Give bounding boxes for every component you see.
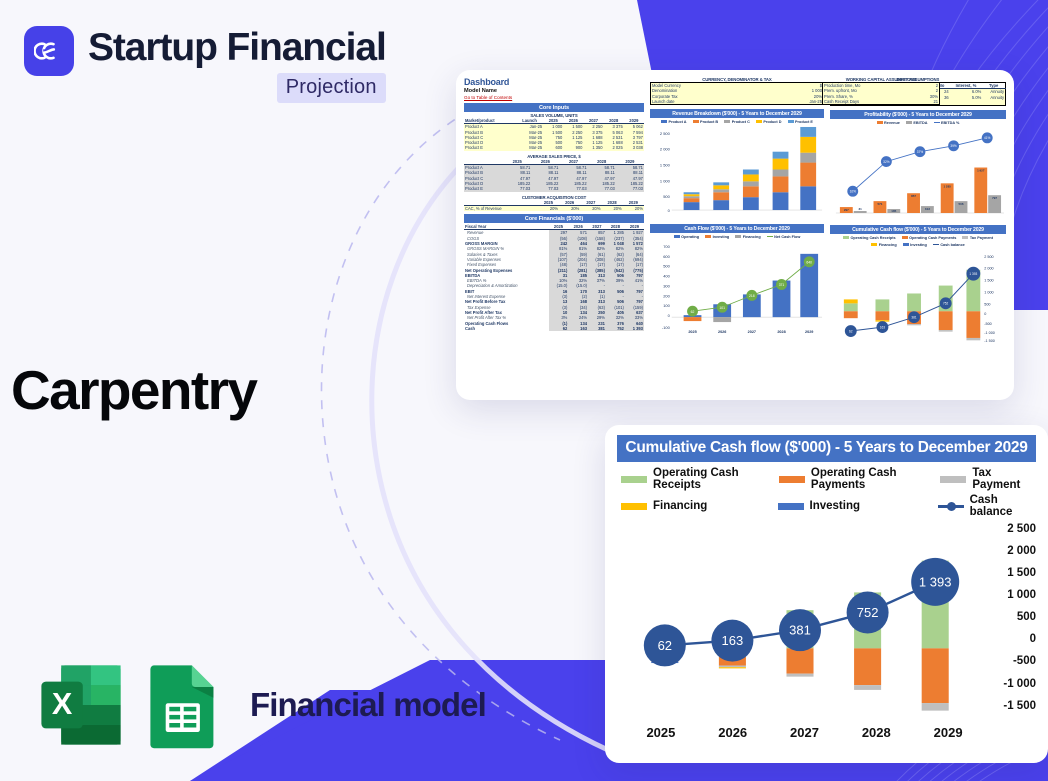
avg-price-table: 20252026202720282029Product A58.7158.715… bbox=[464, 159, 644, 192]
svg-text:2025: 2025 bbox=[688, 330, 696, 334]
svg-text:-100: -100 bbox=[662, 325, 671, 330]
svg-text:0: 0 bbox=[668, 313, 671, 318]
y-tick-label: 2 500 bbox=[1007, 523, 1036, 535]
data-point-label: 163 bbox=[722, 633, 744, 648]
legend-item: Investing bbox=[705, 235, 729, 239]
cell-value: 20% bbox=[538, 205, 559, 211]
legend-item: Operating bbox=[674, 235, 699, 239]
legend-swatch bbox=[767, 236, 773, 238]
row-label: CAC, % of Revenue bbox=[464, 205, 538, 211]
cashflow-legend: OperatingInvestingFinancingNet Cash Flow bbox=[650, 233, 824, 240]
cashflow-chart: 700600500 400300200 1000-100 62 bbox=[650, 240, 824, 335]
svg-text:-1 500: -1 500 bbox=[984, 339, 995, 343]
svg-text:0: 0 bbox=[668, 208, 671, 213]
legend-item-tax-payment: Tax Payment bbox=[940, 467, 1032, 491]
legend-label: Revenue bbox=[884, 121, 900, 125]
legend-label: Product B bbox=[700, 120, 718, 124]
legend-item: Revenue bbox=[877, 121, 900, 125]
legend-label: Product C bbox=[732, 120, 750, 124]
currency-box-table: Model Currency$Denomination1 000Corporat… bbox=[650, 82, 824, 105]
bar-segment bbox=[922, 703, 949, 711]
chart-plot-area: 621633817521 393 2 5002 0001 5001 000500… bbox=[617, 525, 1036, 740]
legend-item: Product A bbox=[661, 120, 687, 124]
table-row: Product EMar-256009001 3502 0253 038 bbox=[464, 145, 644, 150]
svg-text:32%: 32% bbox=[883, 160, 890, 164]
cumulative-cashflow-card[interactable]: Cumulative Cash flow ($'000) - 5 Years t… bbox=[605, 425, 1048, 763]
legend-swatch bbox=[933, 244, 939, 246]
svg-text:185: 185 bbox=[891, 209, 896, 213]
legend-label: Net Cash Flow bbox=[774, 235, 800, 239]
cell-value: 163 bbox=[568, 326, 588, 331]
cell-value: 900 bbox=[563, 145, 583, 150]
model-name-label: Model Name bbox=[464, 88, 644, 94]
row-label: Cash Receipt Days bbox=[823, 99, 915, 105]
svg-text:2029: 2029 bbox=[805, 330, 813, 334]
legend-item-operating-cash-payments: Operating Cash Payments bbox=[779, 467, 940, 491]
legend-item: Investing bbox=[903, 243, 927, 247]
profitability-legend: RevenueEBITDAEBITDA % bbox=[830, 119, 1006, 126]
legend-swatch bbox=[756, 120, 762, 123]
legend-label: Tax Payment bbox=[972, 467, 1032, 491]
svg-text:62: 62 bbox=[849, 330, 853, 334]
cell-value bbox=[950, 100, 983, 106]
cumulative-cashflow-chart-title: Cumulative Cash flow ($'000) - 5 Years t… bbox=[830, 225, 1006, 234]
legend-label: EBITDA % bbox=[941, 121, 959, 125]
svg-text:1 285: 1 285 bbox=[943, 184, 951, 188]
svg-text:300: 300 bbox=[663, 284, 670, 289]
cell-value: 77.03 bbox=[616, 186, 644, 191]
legend-swatch bbox=[693, 120, 699, 123]
svg-text:41%: 41% bbox=[984, 136, 991, 140]
cell-value: 21 bbox=[914, 99, 939, 105]
legend-item: EBITDA % bbox=[934, 121, 960, 125]
cell-value: 2 025 bbox=[604, 145, 624, 150]
legend-swatch bbox=[788, 120, 794, 123]
cell-value: Jan-25 bbox=[767, 99, 823, 105]
svg-text:1 927: 1 927 bbox=[977, 169, 985, 173]
wc-assumptions-block: WORKING CAPITAL ASSUMPTIONS Production t… bbox=[822, 77, 940, 105]
chart-svg: 621633817521 393 bbox=[617, 525, 987, 730]
chart-y-axis: 2 5002 0001 5001 0005000-500-1 000-1 500 bbox=[988, 525, 1036, 715]
revenue-breakdown-chart-title: Revenue Breakdown ($'000) - 5 Years to D… bbox=[650, 109, 824, 118]
dashboard-middle-column: CURRENCY, DENOMINATOR & TAX Model Curren… bbox=[650, 77, 824, 393]
y-tick-label: 1 000 bbox=[1007, 589, 1036, 601]
legend-swatch bbox=[735, 235, 741, 238]
wc-assumptions-table: Production time, Mo2Prem. upfront, Mo2Pr… bbox=[822, 82, 940, 105]
chart-title: Cumulative Cash flow ($'000) - 5 Years t… bbox=[617, 435, 1036, 462]
x-tick-label: 2026 bbox=[697, 725, 769, 740]
legend-label: Investing bbox=[910, 243, 927, 247]
data-point-label: 381 bbox=[789, 623, 811, 638]
svg-text:500: 500 bbox=[663, 194, 670, 199]
legend-swatch bbox=[843, 236, 849, 239]
cashflow-chart-title: Cash Flow ($'000) - 5 Years to December … bbox=[650, 224, 824, 233]
legend-label: Operating Cash Receipts bbox=[850, 236, 895, 240]
data-point-label: 1 393 bbox=[919, 574, 952, 589]
dashboard-screenshot-card[interactable]: Dashboard Model Name Go to Table of Cont… bbox=[456, 70, 1014, 400]
cac-table: 20252026202720282029CAC, % of Revenue20%… bbox=[464, 200, 644, 212]
svg-text:1 393: 1 393 bbox=[969, 272, 977, 276]
infinity-loop-icon bbox=[34, 36, 64, 66]
chart-legend: Operating Cash Receipts Operating Cash P… bbox=[617, 462, 1036, 523]
svg-text:1 000: 1 000 bbox=[984, 291, 993, 295]
legend-item: EBITDA bbox=[906, 121, 928, 125]
google-sheets-icon bbox=[136, 660, 226, 750]
legend-swatch bbox=[674, 235, 680, 238]
dashboard-right-column: DEBT ASSUMPTIONS Loan NameAmount, $Launc… bbox=[830, 77, 1006, 393]
chart-x-axis: 20252026202720282029 bbox=[625, 725, 984, 740]
svg-text:2027: 2027 bbox=[748, 330, 756, 334]
data-point-label: 62 bbox=[658, 638, 672, 653]
profitability-chart: 29731 571185 857313 1 285506 1 927797 10… bbox=[830, 126, 1006, 221]
legend-swatch bbox=[934, 122, 940, 124]
bar-segment bbox=[854, 685, 881, 690]
row-label: Product E bbox=[464, 186, 503, 191]
svg-text:2 000: 2 000 bbox=[660, 147, 671, 152]
brand-title: Startup Financial bbox=[88, 26, 386, 70]
legend-item: Financing bbox=[871, 243, 896, 247]
legend-label: Product D bbox=[763, 120, 781, 124]
legend-label: Operating Cash Receipts bbox=[653, 467, 779, 491]
cell-value: 20% bbox=[580, 205, 601, 211]
x-tick-label: 2025 bbox=[625, 725, 697, 740]
svg-text:37%: 37% bbox=[917, 150, 924, 154]
svg-text:1 500: 1 500 bbox=[984, 279, 993, 283]
legend-label: Tax Payment bbox=[970, 236, 993, 240]
cumulative-cashflow-chart: 2 5002 0001 500 1 0005000 -500-1 000-1 5… bbox=[830, 248, 1006, 343]
filetype-row: X Financial model bbox=[36, 660, 486, 750]
table-row: Cash Receipt Days21 bbox=[823, 99, 940, 105]
legend-swatch bbox=[902, 236, 908, 239]
svg-text:500: 500 bbox=[984, 302, 990, 306]
cell-value: Mar-25 bbox=[516, 145, 543, 150]
dashboard-heading: Dashboard bbox=[464, 77, 644, 87]
legend-swatch bbox=[877, 121, 883, 124]
svg-text:2 500: 2 500 bbox=[660, 131, 671, 136]
x-tick-label: 2027 bbox=[769, 725, 841, 740]
legend-label: EBITDA bbox=[913, 121, 927, 125]
cell-value: 1 393 bbox=[625, 326, 644, 331]
revenue-breakdown-chart: 2 5002 000 1 5001 000 5000 bbox=[650, 125, 824, 220]
legend-item: Product E bbox=[788, 120, 813, 124]
legend-swatch-green bbox=[621, 476, 647, 483]
filetype-label: Financial model bbox=[250, 686, 486, 724]
svg-text:506: 506 bbox=[959, 202, 964, 206]
core-inputs-band: Core Inputs bbox=[464, 103, 644, 112]
cell-value: 1 350 bbox=[583, 145, 603, 150]
svg-text:400: 400 bbox=[663, 274, 670, 279]
svg-text:857: 857 bbox=[911, 194, 916, 198]
table-row: CAC, % of Revenue20%20%20%20%20% bbox=[464, 205, 644, 211]
legend-swatch-blue bbox=[778, 503, 804, 510]
sales-volume-table: Market/productLaunch20252026202720282029… bbox=[464, 118, 644, 151]
legend-label: Financing bbox=[653, 500, 707, 512]
excel-icon: X bbox=[36, 660, 126, 750]
svg-text:2028: 2028 bbox=[777, 330, 785, 334]
svg-text:31: 31 bbox=[859, 207, 863, 211]
legend-label: Product E bbox=[795, 120, 813, 124]
cell-value: 77.03 bbox=[531, 186, 559, 191]
svg-text:218: 218 bbox=[749, 294, 755, 298]
svg-text:39%: 39% bbox=[950, 144, 957, 148]
legend-item-financing: Financing bbox=[621, 500, 778, 512]
legend-item: Tax Payment bbox=[962, 236, 993, 240]
row-label: Launch date bbox=[650, 99, 767, 105]
brand-logo-mark bbox=[24, 26, 74, 76]
cell-value bbox=[982, 100, 1005, 106]
bar-segment bbox=[922, 648, 949, 703]
svg-text:571: 571 bbox=[877, 202, 882, 206]
svg-text:297: 297 bbox=[844, 208, 849, 212]
cell-value: 752 bbox=[606, 326, 625, 331]
svg-text:-1 000: -1 000 bbox=[984, 331, 995, 335]
row-label: Product E bbox=[464, 145, 516, 150]
row-label: Cash bbox=[464, 326, 549, 331]
cell-value: 77.03 bbox=[503, 186, 531, 191]
legend-item: Financing bbox=[735, 235, 760, 239]
industry-title: Carpentry bbox=[11, 356, 256, 424]
legend-label: Operating bbox=[681, 235, 699, 239]
svg-text:163: 163 bbox=[880, 326, 886, 330]
legend-item: Product D bbox=[756, 120, 782, 124]
legend-label: Cash balance bbox=[970, 494, 1032, 518]
legend-swatch-yellow bbox=[621, 503, 647, 510]
svg-text:797: 797 bbox=[992, 196, 997, 200]
svg-text:101: 101 bbox=[719, 306, 725, 310]
svg-text:700: 700 bbox=[663, 244, 670, 249]
legend-swatch bbox=[962, 236, 968, 239]
cell-value: 3 038 bbox=[624, 145, 644, 150]
svg-text:200: 200 bbox=[663, 293, 670, 298]
svg-text:0: 0 bbox=[984, 312, 986, 316]
bar-segment bbox=[719, 666, 746, 668]
legend-label: Operating Cash Payments bbox=[811, 467, 940, 491]
cell-value: 600 bbox=[543, 145, 563, 150]
svg-text:640: 640 bbox=[806, 260, 812, 264]
legend-item-operating-cash-receipts: Operating Cash Receipts bbox=[621, 467, 779, 491]
table-row: Launch dateJan-25 bbox=[650, 99, 823, 105]
svg-text:752: 752 bbox=[943, 302, 949, 306]
bar-segment bbox=[854, 648, 881, 685]
svg-text:2026: 2026 bbox=[718, 330, 726, 334]
profitability-chart-title: Profitability ($'000) - 5 Years to Decem… bbox=[830, 110, 1006, 119]
y-tick-label: -500 bbox=[1013, 655, 1036, 667]
y-tick-label: -1 000 bbox=[1003, 678, 1036, 690]
svg-text:1 500: 1 500 bbox=[660, 163, 671, 168]
x-tick-label: 2028 bbox=[840, 725, 912, 740]
legend-label: Investing bbox=[810, 500, 860, 512]
svg-text:371: 371 bbox=[779, 283, 785, 287]
legend-swatch bbox=[871, 243, 877, 246]
legend-item: Operating Cash Receipts bbox=[843, 236, 896, 240]
y-tick-label: 500 bbox=[1017, 611, 1036, 623]
svg-text:100: 100 bbox=[663, 303, 670, 308]
legend-item: Product C bbox=[724, 120, 750, 124]
cell-value: 77.03 bbox=[588, 186, 616, 191]
legend-label: Product A bbox=[669, 120, 687, 124]
legend-swatch-orange bbox=[779, 476, 805, 483]
bar-segment bbox=[719, 667, 746, 668]
brand-logo-block: Startup Financial Projection bbox=[24, 26, 386, 103]
legend-label: Operating Cash Payments bbox=[909, 236, 956, 240]
svg-text:2 000: 2 000 bbox=[984, 267, 993, 271]
y-tick-label: -1 500 bbox=[1003, 700, 1036, 712]
bar-segment bbox=[786, 674, 813, 677]
svg-text:10%: 10% bbox=[850, 190, 857, 194]
cell-value: 62 bbox=[549, 326, 569, 331]
cell-value: 381 bbox=[588, 326, 606, 331]
core-financials-band: Core Financials ($'000) bbox=[464, 214, 644, 223]
svg-text:2 500: 2 500 bbox=[984, 255, 993, 259]
data-point-label: 752 bbox=[857, 605, 879, 620]
table-header-row: Market/productLaunch20252026202720282029 bbox=[464, 118, 644, 124]
svg-text:1 000: 1 000 bbox=[660, 179, 671, 184]
bar-segment bbox=[786, 648, 813, 673]
revenue-breakdown-legend: Product AProduct BProduct CProduct DProd… bbox=[650, 118, 824, 125]
cell-value: 77.03 bbox=[559, 186, 587, 191]
legend-swatch bbox=[661, 120, 667, 123]
cumulative-cashflow-legend: Operating Cash ReceiptsOperating Cash Pa… bbox=[830, 234, 1006, 248]
y-tick-label: 0 bbox=[1030, 633, 1036, 645]
legend-swatch-line bbox=[938, 505, 964, 508]
svg-text:X: X bbox=[52, 687, 73, 721]
svg-text:500: 500 bbox=[663, 264, 670, 269]
cell-value: 20% bbox=[601, 205, 622, 211]
legend-label: Cash balance bbox=[940, 243, 964, 247]
cell-value: 20% bbox=[623, 205, 644, 211]
table-row: Product E77.0377.0377.0377.0377.03 bbox=[464, 186, 644, 191]
table-row: Cash621633817521 393 bbox=[464, 326, 644, 331]
svg-text:-500: -500 bbox=[984, 322, 992, 326]
legend-item: Operating Cash Payments bbox=[902, 236, 957, 240]
legend-item: Net Cash Flow bbox=[767, 235, 801, 239]
x-tick-label: 2029 bbox=[912, 725, 984, 740]
core-financials-table: Fiscal Year20252026202720282029Revenue29… bbox=[464, 224, 644, 331]
svg-text:313: 313 bbox=[925, 207, 930, 211]
legend-label: Investing bbox=[713, 235, 730, 239]
svg-text:381: 381 bbox=[911, 316, 917, 320]
svg-text:600: 600 bbox=[663, 254, 670, 259]
legend-label: Financing bbox=[879, 243, 897, 247]
y-tick-label: 2 000 bbox=[1007, 545, 1036, 557]
legend-swatch bbox=[903, 243, 909, 246]
cell-value: 20% bbox=[559, 205, 580, 211]
legend-item-cash-balance: Cash balance bbox=[938, 494, 1032, 518]
y-tick-label: 1 500 bbox=[1007, 567, 1036, 579]
legend-swatch bbox=[705, 235, 711, 238]
legend-swatch bbox=[724, 120, 730, 123]
legend-item-investing: Investing bbox=[778, 500, 938, 512]
svg-text:62: 62 bbox=[691, 310, 695, 314]
legend-swatch bbox=[906, 121, 912, 124]
legend-item: Cash balance bbox=[933, 243, 965, 247]
dashboard-left-column: Dashboard Model Name Go to Table of Cont… bbox=[464, 77, 644, 393]
legend-swatch-gray bbox=[940, 476, 966, 483]
legend-label: Financing bbox=[743, 235, 761, 239]
brand-subtitle: Projection bbox=[277, 73, 386, 103]
legend-item: Product B bbox=[693, 120, 719, 124]
toc-link[interactable]: Go to Table of Contents bbox=[464, 95, 644, 100]
